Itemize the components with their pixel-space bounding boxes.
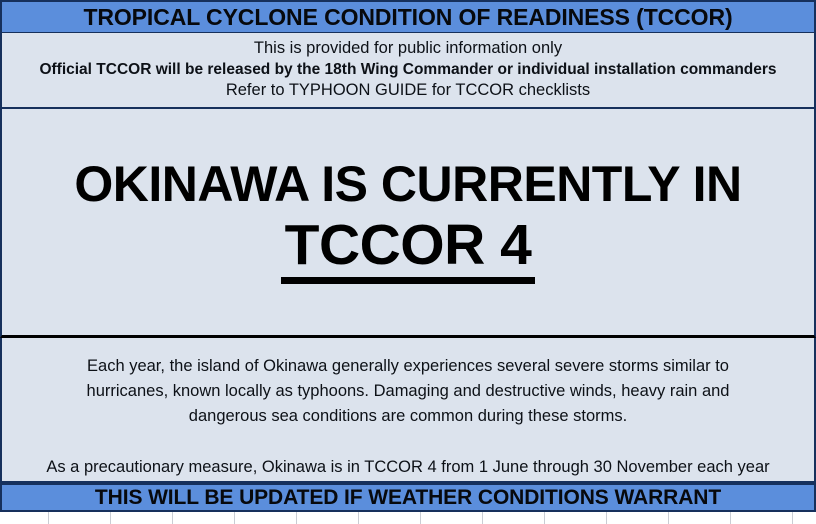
precautionary-note: As a precautionary measure, Okinawa is i… <box>8 455 808 480</box>
tccor-level-badge: TCCOR 4 <box>281 216 536 285</box>
description-line-1: Each year, the island of Okinawa general… <box>8 354 808 379</box>
sheet-gridline-tick <box>296 512 297 524</box>
header-notes-panel: This is provided for public information … <box>0 33 816 109</box>
sheet-gridline-tick <box>792 512 793 524</box>
status-lead-text: OKINAWA IS CURRENTLY IN <box>74 158 741 211</box>
sheet-gridline-strip <box>0 512 816 524</box>
sheet-gridline-tick <box>358 512 359 524</box>
description-line-3: dangerous sea conditions are common duri… <box>8 404 808 429</box>
footer-update-band: THIS WILL BE UPDATED IF WEATHER CONDITIO… <box>0 483 816 512</box>
description-panel: Each year, the island of Okinawa general… <box>0 338 816 483</box>
sheet-gridline-tick <box>668 512 669 524</box>
sheet-gridline-tick <box>482 512 483 524</box>
header-note-line-1: This is provided for public information … <box>6 38 810 59</box>
page-title: TROPICAL CYCLONE CONDITION OF READINESS … <box>83 6 732 29</box>
header-note-line-3: Refer to TYPHOON GUIDE for TCCOR checkli… <box>6 80 810 101</box>
footer-update-text: THIS WILL BE UPDATED IF WEATHER CONDITIO… <box>95 487 721 508</box>
description-line-2: hurricanes, known locally as typhoons. D… <box>8 379 808 404</box>
sheet-gridline-tick <box>606 512 607 524</box>
sheet-gridline-tick <box>234 512 235 524</box>
header-note-line-2: Official TCCOR will be released by the 1… <box>6 59 810 80</box>
sheet-gridline-tick <box>172 512 173 524</box>
sheet-gridline-tick <box>110 512 111 524</box>
tccor-status-board: TROPICAL CYCLONE CONDITION OF READINESS … <box>0 0 816 523</box>
sheet-gridline-tick <box>730 512 731 524</box>
sheet-gridline-tick <box>48 512 49 524</box>
sheet-gridline-tick <box>544 512 545 524</box>
current-status-panel: OKINAWA IS CURRENTLY IN TCCOR 4 <box>0 109 816 338</box>
header-title-band: TROPICAL CYCLONE CONDITION OF READINESS … <box>0 0 816 33</box>
sheet-gridline-tick <box>420 512 421 524</box>
